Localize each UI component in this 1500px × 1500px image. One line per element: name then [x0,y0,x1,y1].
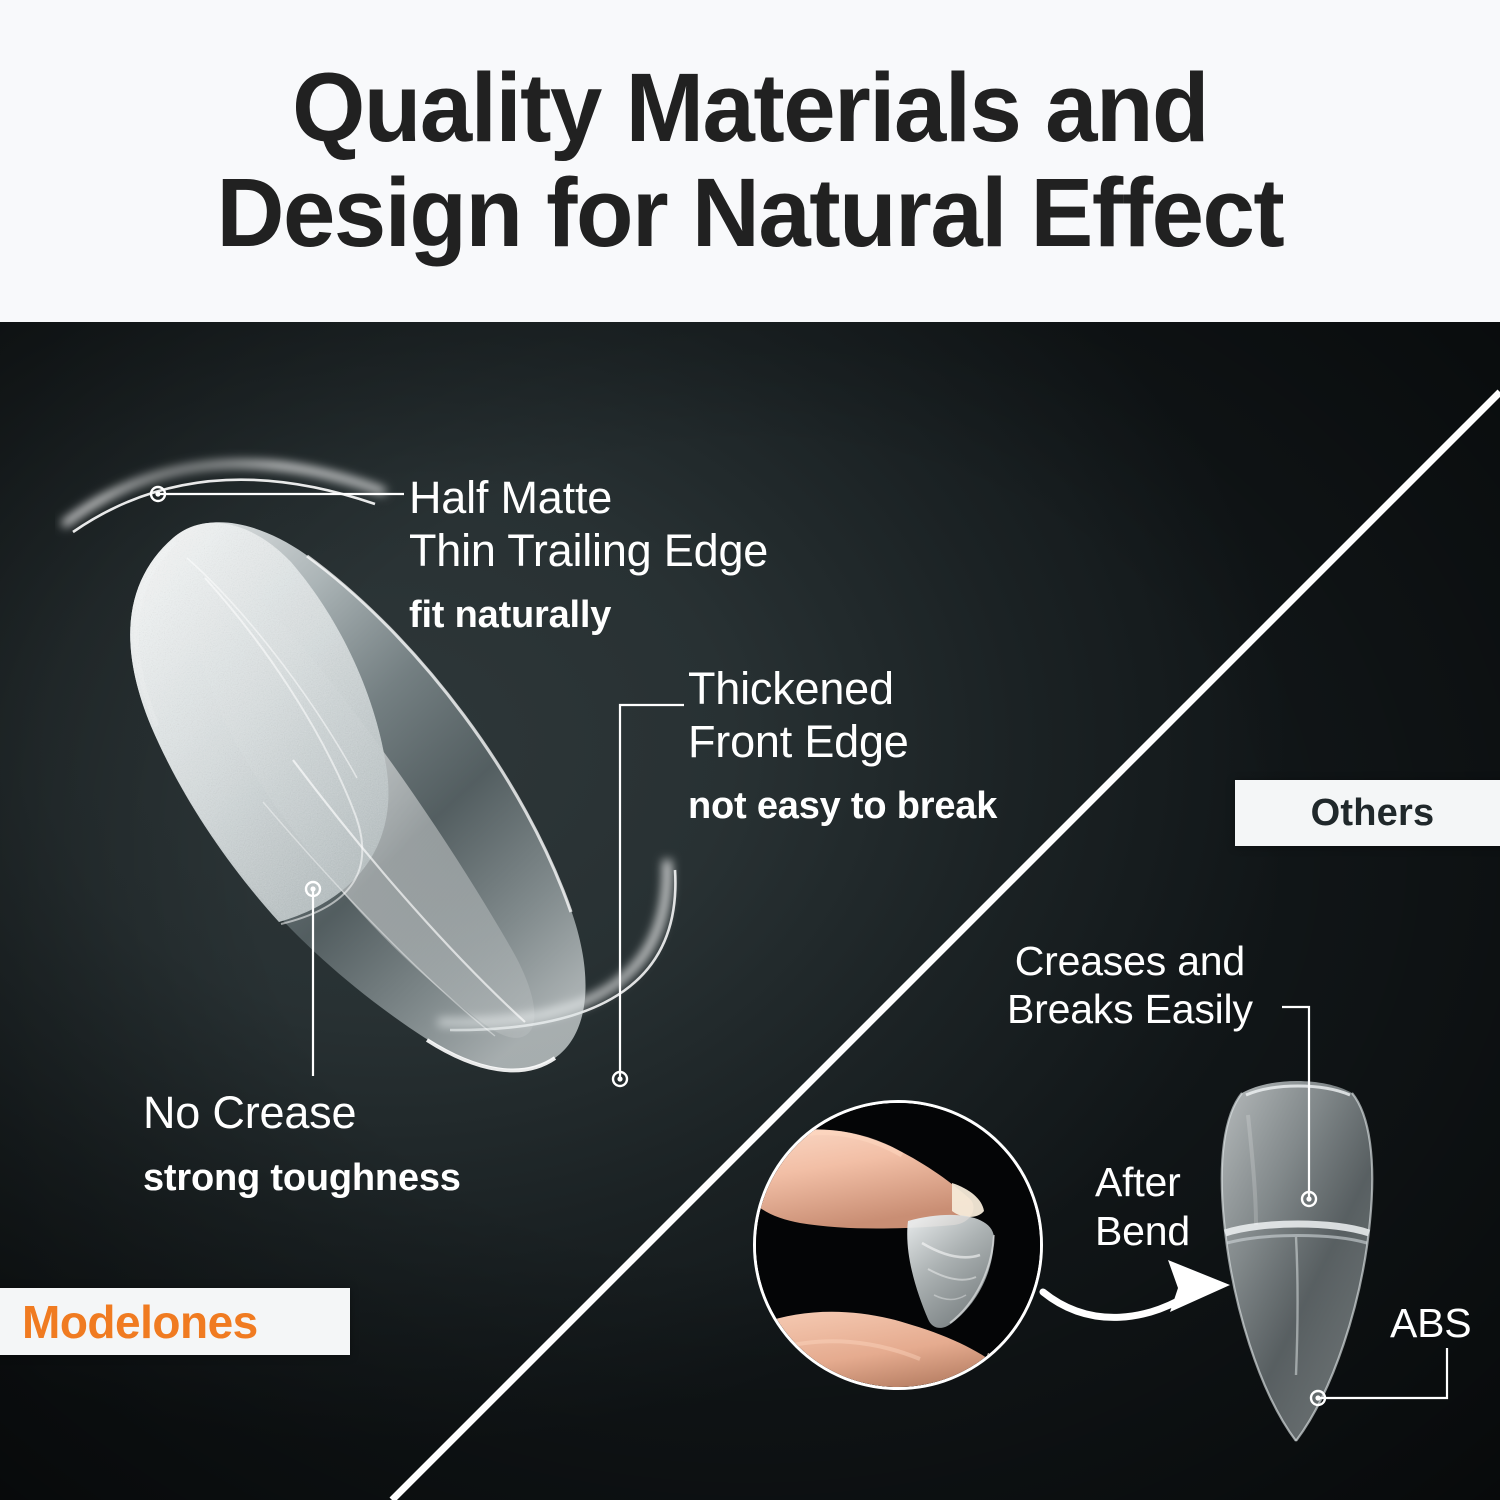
callout-thickened-subtitle: not easy to break [688,785,997,828]
callout-abs-title: ABS [1390,1300,1471,1348]
callout-half-matte-subtitle: fit naturally [409,594,768,637]
callout-no-crease-subtitle: strong toughness [143,1157,461,1200]
callout-after-bend-title: After Bend [1095,1158,1190,1256]
callout-after-bend: After Bend [1095,1158,1190,1256]
abs-nail-tip-image [1212,1075,1384,1455]
pinching-nail-tip-photo [756,1103,1043,1390]
callout-thickened-front-edge: Thickened Front Edge not easy to break [688,663,997,828]
callout-thickened-title: Thickened Front Edge [688,663,997,768]
callout-no-crease: No Crease strong toughness [143,1087,461,1200]
callout-abs: ABS [1390,1300,1471,1348]
competitor-badge-others: Others [1235,780,1500,846]
bend-test-photo-inset [753,1100,1043,1390]
callout-half-matte-title: Half Matte Thin Trailing Edge [409,472,768,577]
infographic-page: Quality Materials and Design for Natural… [0,0,1500,1500]
page-title-line-2: Design for Natural Effect [217,161,1284,266]
brand-badge-modelones: Modelones [0,1288,350,1355]
callout-half-matte: Half Matte Thin Trailing Edge fit natura… [409,472,768,637]
swoosh-arc-top [63,464,385,525]
page-title-line-1: Quality Materials and [292,56,1208,161]
brand-badge-label: Modelones [22,1295,258,1349]
callout-no-crease-title: No Crease [143,1087,461,1140]
header-banner: Quality Materials and Design for Natural… [0,0,1500,322]
callout-creases-title: Creases and Breaks Easily [1007,938,1253,1033]
callout-creases-breaks: Creases and Breaks Easily [1007,938,1253,1033]
competitor-badge-label: Others [1311,792,1435,835]
